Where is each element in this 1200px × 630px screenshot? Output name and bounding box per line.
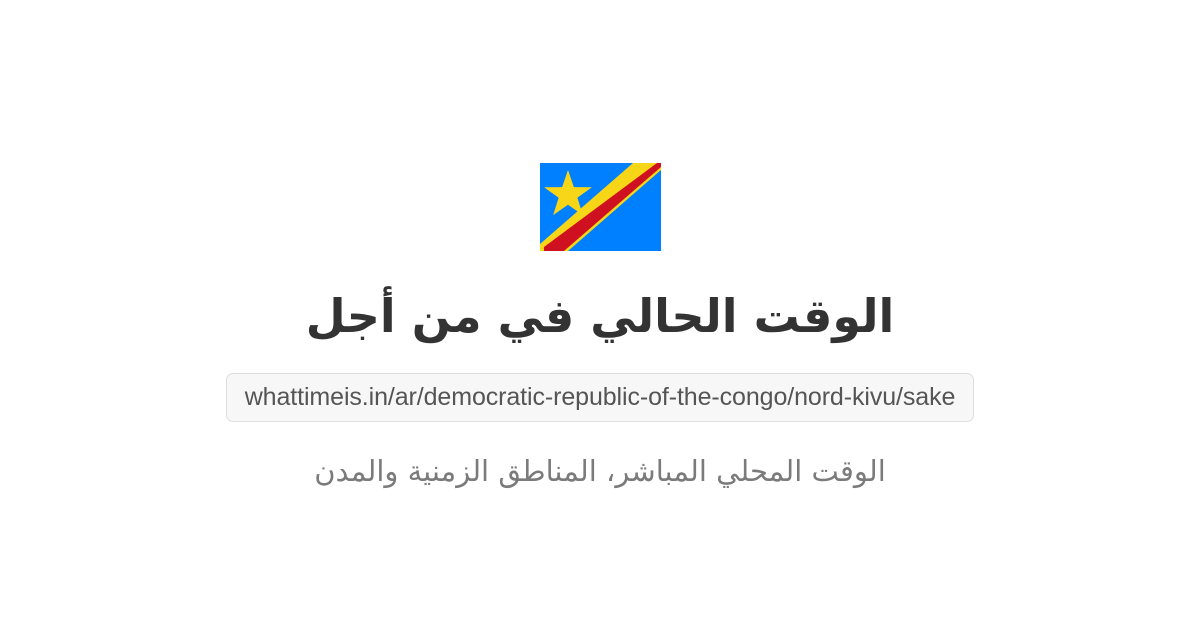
flag-democratic-republic-of-the-congo-icon [540, 163, 661, 251]
url-text: whattimeis.in/ar/democratic-republic-of-… [245, 385, 956, 410]
url-display-box[interactable]: whattimeis.in/ar/democratic-republic-of-… [226, 373, 975, 422]
preview-card: الوقت الحالي في من أجل whattimeis.in/ar/… [0, 0, 1200, 630]
page-title: الوقت الحالي في من أجل [70, 287, 1130, 345]
page-subtitle: الوقت المحلي المباشر، المناطق الزمنية وا… [70, 451, 1130, 491]
